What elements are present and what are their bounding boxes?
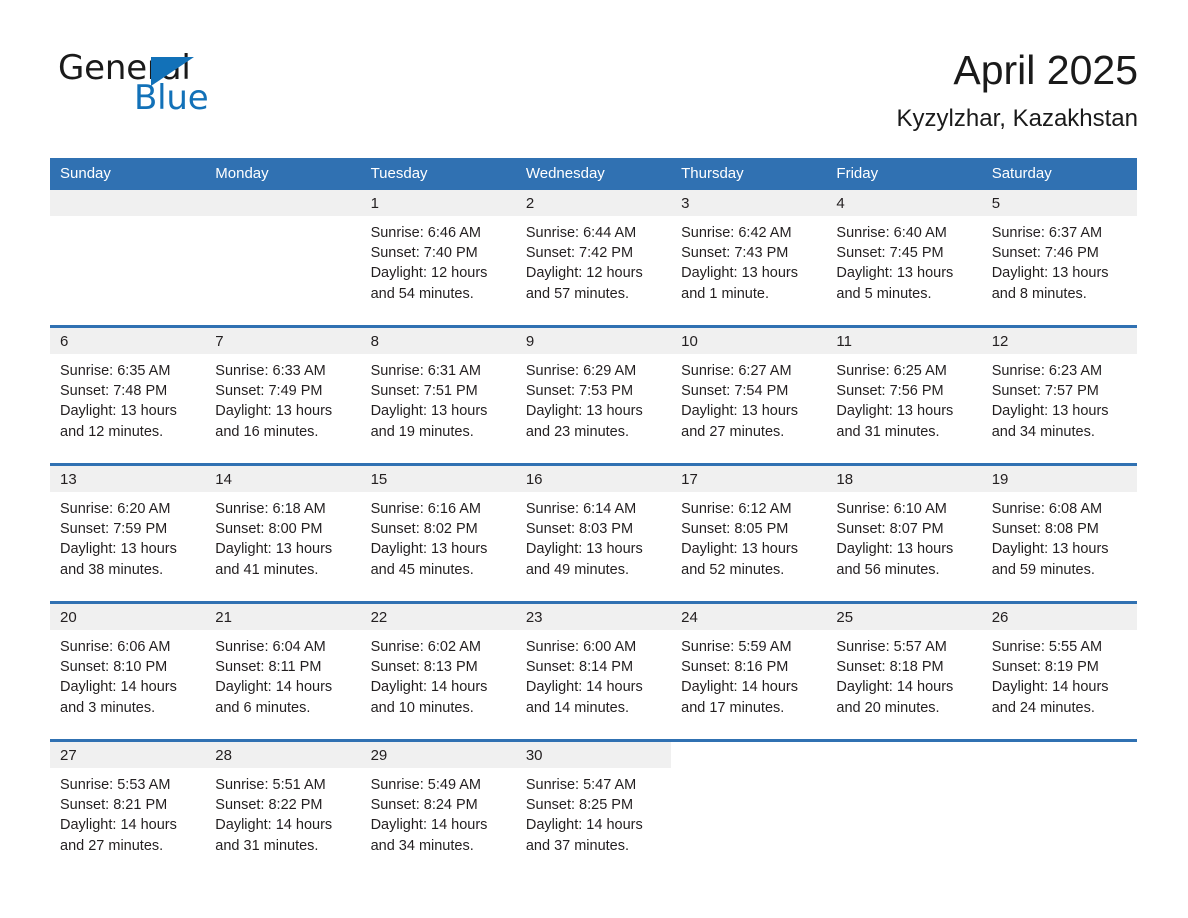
- sunset-text: Sunset: 7:59 PM: [60, 519, 197, 539]
- day-number: 29: [361, 742, 516, 768]
- sunset-text: Sunset: 8:24 PM: [371, 795, 508, 815]
- logo-text-blue: Blue: [134, 78, 208, 118]
- sunrise-text: Sunrise: 6:18 AM: [215, 499, 352, 519]
- sunset-text: Sunset: 8:08 PM: [992, 519, 1129, 539]
- day-details: Sunrise: 6:06 AMSunset: 8:10 PMDaylight:…: [50, 630, 205, 718]
- sunrise-text: Sunrise: 6:20 AM: [60, 499, 197, 519]
- sunset-text: Sunset: 8:22 PM: [215, 795, 352, 815]
- day-number: 18: [826, 466, 981, 492]
- day-number: 3: [671, 190, 826, 216]
- sunrise-text: Sunrise: 6:02 AM: [371, 637, 508, 657]
- calendar-header-row: Sunday Monday Tuesday Wednesday Thursday…: [50, 158, 1137, 190]
- sunrise-text: Sunrise: 6:00 AM: [526, 637, 663, 657]
- day-number: 2: [516, 190, 671, 216]
- day-number: 19: [982, 466, 1137, 492]
- general-blue-logo[interactable]: General Blue: [58, 48, 318, 118]
- daylight-text-line2: and 19 minutes.: [371, 422, 508, 442]
- daylight-text-line2: and 6 minutes.: [215, 698, 352, 718]
- calendar-cell-day[interactable]: 8Sunrise: 6:31 AMSunset: 7:51 PMDaylight…: [361, 327, 516, 465]
- daylight-text-line2: and 34 minutes.: [992, 422, 1129, 442]
- sunset-text: Sunset: 7:57 PM: [992, 381, 1129, 401]
- sunset-text: Sunset: 7:42 PM: [526, 243, 663, 263]
- sunrise-text: Sunrise: 6:40 AM: [836, 223, 973, 243]
- day-number: [982, 742, 1137, 768]
- page-header: General Blue April 2025 Kyzylzhar, Kazak…: [0, 0, 1188, 150]
- weekday-header-thursday: Thursday: [671, 158, 826, 190]
- daylight-text-line2: and 54 minutes.: [371, 284, 508, 304]
- daylight-text-line2: and 27 minutes.: [60, 836, 197, 856]
- daylight-text-line2: and 31 minutes.: [215, 836, 352, 856]
- daylight-text-line1: Daylight: 14 hours: [681, 677, 818, 697]
- weekday-header-monday: Monday: [205, 158, 360, 190]
- calendar-cell-empty: [205, 190, 360, 327]
- day-number: 17: [671, 466, 826, 492]
- daylight-text-line1: Daylight: 12 hours: [371, 263, 508, 283]
- daylight-text-line2: and 12 minutes.: [60, 422, 197, 442]
- day-details: Sunrise: 6:08 AMSunset: 8:08 PMDaylight:…: [982, 492, 1137, 580]
- calendar-cell-day[interactable]: 2Sunrise: 6:44 AMSunset: 7:42 PMDaylight…: [516, 190, 671, 327]
- daylight-text-line1: Daylight: 14 hours: [215, 815, 352, 835]
- daylight-text-line2: and 14 minutes.: [526, 698, 663, 718]
- daylight-text-line1: Daylight: 13 hours: [526, 539, 663, 559]
- sunset-text: Sunset: 8:25 PM: [526, 795, 663, 815]
- day-number: 5: [982, 190, 1137, 216]
- sunset-text: Sunset: 7:56 PM: [836, 381, 973, 401]
- day-details: Sunrise: 6:14 AMSunset: 8:03 PMDaylight:…: [516, 492, 671, 580]
- daylight-text-line2: and 27 minutes.: [681, 422, 818, 442]
- calendar-cell-day[interactable]: 7Sunrise: 6:33 AMSunset: 7:49 PMDaylight…: [205, 327, 360, 465]
- daylight-text-line1: Daylight: 13 hours: [836, 401, 973, 421]
- daylight-text-line1: Daylight: 13 hours: [60, 401, 197, 421]
- sunset-text: Sunset: 8:00 PM: [215, 519, 352, 539]
- sunset-text: Sunset: 7:51 PM: [371, 381, 508, 401]
- calendar-cell-day[interactable]: 23Sunrise: 6:00 AMSunset: 8:14 PMDayligh…: [516, 603, 671, 741]
- daylight-text-line1: Daylight: 14 hours: [992, 677, 1129, 697]
- daylight-text-line2: and 5 minutes.: [836, 284, 973, 304]
- calendar-week-row: 27Sunrise: 5:53 AMSunset: 8:21 PMDayligh…: [50, 741, 1137, 861]
- calendar-cell-empty: [826, 741, 981, 861]
- day-number: 7: [205, 328, 360, 354]
- day-number: 27: [50, 742, 205, 768]
- day-details: Sunrise: 6:25 AMSunset: 7:56 PMDaylight:…: [826, 354, 981, 442]
- calendar-cell-empty: [50, 190, 205, 327]
- sunrise-text: Sunrise: 5:49 AM: [371, 775, 508, 795]
- weekday-header-sunday: Sunday: [50, 158, 205, 190]
- calendar-week-row: 13Sunrise: 6:20 AMSunset: 7:59 PMDayligh…: [50, 465, 1137, 603]
- daylight-text-line1: Daylight: 13 hours: [371, 401, 508, 421]
- sunset-text: Sunset: 8:07 PM: [836, 519, 973, 539]
- day-number: [205, 190, 360, 216]
- day-number: 21: [205, 604, 360, 630]
- day-details: Sunrise: 6:33 AMSunset: 7:49 PMDaylight:…: [205, 354, 360, 442]
- daylight-text-line1: Daylight: 12 hours: [526, 263, 663, 283]
- daylight-text-line2: and 38 minutes.: [60, 560, 197, 580]
- sunrise-text: Sunrise: 6:10 AM: [836, 499, 973, 519]
- day-details: Sunrise: 6:23 AMSunset: 7:57 PMDaylight:…: [982, 354, 1137, 442]
- daylight-text-line1: Daylight: 13 hours: [371, 539, 508, 559]
- day-number: 6: [50, 328, 205, 354]
- page-title: April 2025: [897, 44, 1138, 96]
- day-details: Sunrise: 6:16 AMSunset: 8:02 PMDaylight:…: [361, 492, 516, 580]
- day-details: Sunrise: 5:49 AMSunset: 8:24 PMDaylight:…: [361, 768, 516, 856]
- sunrise-text: Sunrise: 5:59 AM: [681, 637, 818, 657]
- daylight-text-line1: Daylight: 13 hours: [681, 539, 818, 559]
- sunset-text: Sunset: 7:49 PM: [215, 381, 352, 401]
- calendar-cell-day[interactable]: 5Sunrise: 6:37 AMSunset: 7:46 PMDaylight…: [982, 190, 1137, 327]
- day-details: Sunrise: 6:12 AMSunset: 8:05 PMDaylight:…: [671, 492, 826, 580]
- daylight-text-line2: and 8 minutes.: [992, 284, 1129, 304]
- sunrise-text: Sunrise: 6:06 AM: [60, 637, 197, 657]
- day-number: 11: [826, 328, 981, 354]
- sunrise-text: Sunrise: 5:51 AM: [215, 775, 352, 795]
- daylight-text-line1: Daylight: 13 hours: [836, 263, 973, 283]
- sunrise-text: Sunrise: 6:25 AM: [836, 361, 973, 381]
- daylight-text-line1: Daylight: 13 hours: [681, 263, 818, 283]
- daylight-text-line2: and 49 minutes.: [526, 560, 663, 580]
- sunset-text: Sunset: 8:19 PM: [992, 657, 1129, 677]
- sunrise-text: Sunrise: 6:08 AM: [992, 499, 1129, 519]
- calendar-cell-day[interactable]: 26Sunrise: 5:55 AMSunset: 8:19 PMDayligh…: [982, 603, 1137, 741]
- day-details: Sunrise: 5:53 AMSunset: 8:21 PMDaylight:…: [50, 768, 205, 856]
- calendar-cell-day[interactable]: 14Sunrise: 6:18 AMSunset: 8:00 PMDayligh…: [205, 465, 360, 603]
- day-details: Sunrise: 5:57 AMSunset: 8:18 PMDaylight:…: [826, 630, 981, 718]
- daylight-text-line1: Daylight: 14 hours: [526, 815, 663, 835]
- sunset-text: Sunset: 8:21 PM: [60, 795, 197, 815]
- sunset-text: Sunset: 8:05 PM: [681, 519, 818, 539]
- daylight-text-line2: and 34 minutes.: [371, 836, 508, 856]
- day-number: 16: [516, 466, 671, 492]
- calendar-body: 1Sunrise: 6:46 AMSunset: 7:40 PMDaylight…: [50, 190, 1137, 860]
- sunset-text: Sunset: 8:03 PM: [526, 519, 663, 539]
- sunrise-text: Sunrise: 6:04 AM: [215, 637, 352, 657]
- day-details: Sunrise: 6:27 AMSunset: 7:54 PMDaylight:…: [671, 354, 826, 442]
- sunrise-text: Sunrise: 6:12 AM: [681, 499, 818, 519]
- sunrise-text: Sunrise: 5:53 AM: [60, 775, 197, 795]
- day-number: 13: [50, 466, 205, 492]
- day-details: Sunrise: 6:20 AMSunset: 7:59 PMDaylight:…: [50, 492, 205, 580]
- title-block: April 2025 Kyzylzhar, Kazakhstan: [897, 44, 1138, 134]
- day-number: 20: [50, 604, 205, 630]
- day-details: Sunrise: 6:02 AMSunset: 8:13 PMDaylight:…: [361, 630, 516, 718]
- daylight-text-line2: and 45 minutes.: [371, 560, 508, 580]
- calendar-cell-day[interactable]: 21Sunrise: 6:04 AMSunset: 8:11 PMDayligh…: [205, 603, 360, 741]
- day-number: [671, 742, 826, 768]
- calendar-table: Sunday Monday Tuesday Wednesday Thursday…: [50, 158, 1137, 860]
- day-number: 30: [516, 742, 671, 768]
- sunrise-text: Sunrise: 6:33 AM: [215, 361, 352, 381]
- day-details: Sunrise: 6:10 AMSunset: 8:07 PMDaylight:…: [826, 492, 981, 580]
- calendar-cell-day[interactable]: 15Sunrise: 6:16 AMSunset: 8:02 PMDayligh…: [361, 465, 516, 603]
- calendar-cell-empty: [671, 741, 826, 861]
- daylight-text-line1: Daylight: 13 hours: [992, 263, 1129, 283]
- day-number: 8: [361, 328, 516, 354]
- weekday-header-friday: Friday: [826, 158, 981, 190]
- weekday-header-saturday: Saturday: [982, 158, 1137, 190]
- day-details: Sunrise: 6:29 AMSunset: 7:53 PMDaylight:…: [516, 354, 671, 442]
- day-number: [50, 190, 205, 216]
- day-details: Sunrise: 5:47 AMSunset: 8:25 PMDaylight:…: [516, 768, 671, 856]
- day-number: 25: [826, 604, 981, 630]
- daylight-text-line1: Daylight: 13 hours: [992, 401, 1129, 421]
- calendar-cell-empty: [982, 741, 1137, 861]
- calendar-week-row: 1Sunrise: 6:46 AMSunset: 7:40 PMDaylight…: [50, 190, 1137, 327]
- sunset-text: Sunset: 8:16 PM: [681, 657, 818, 677]
- weekday-header-wednesday: Wednesday: [516, 158, 671, 190]
- sunrise-text: Sunrise: 6:46 AM: [371, 223, 508, 243]
- day-details: Sunrise: 6:40 AMSunset: 7:45 PMDaylight:…: [826, 216, 981, 304]
- daylight-text-line1: Daylight: 13 hours: [526, 401, 663, 421]
- day-details: Sunrise: 6:18 AMSunset: 8:00 PMDaylight:…: [205, 492, 360, 580]
- calendar-cell-day[interactable]: 24Sunrise: 5:59 AMSunset: 8:16 PMDayligh…: [671, 603, 826, 741]
- sunset-text: Sunset: 7:54 PM: [681, 381, 818, 401]
- calendar-cell-day[interactable]: 12Sunrise: 6:23 AMSunset: 7:57 PMDayligh…: [982, 327, 1137, 465]
- daylight-text-line2: and 20 minutes.: [836, 698, 973, 718]
- day-details: Sunrise: 6:00 AMSunset: 8:14 PMDaylight:…: [516, 630, 671, 718]
- calendar-cell-day[interactable]: 9Sunrise: 6:29 AMSunset: 7:53 PMDaylight…: [516, 327, 671, 465]
- calendar-cell-day[interactable]: 19Sunrise: 6:08 AMSunset: 8:08 PMDayligh…: [982, 465, 1137, 603]
- day-number: 12: [982, 328, 1137, 354]
- day-number: 14: [205, 466, 360, 492]
- sunrise-text: Sunrise: 6:37 AM: [992, 223, 1129, 243]
- day-number: 26: [982, 604, 1137, 630]
- daylight-text-line1: Daylight: 14 hours: [836, 677, 973, 697]
- daylight-text-line1: Daylight: 13 hours: [60, 539, 197, 559]
- sunrise-text: Sunrise: 6:23 AM: [992, 361, 1129, 381]
- daylight-text-line2: and 41 minutes.: [215, 560, 352, 580]
- calendar-cell-day[interactable]: 18Sunrise: 6:10 AMSunset: 8:07 PMDayligh…: [826, 465, 981, 603]
- calendar-cell-day[interactable]: 22Sunrise: 6:02 AMSunset: 8:13 PMDayligh…: [361, 603, 516, 741]
- calendar-cell-day[interactable]: 6Sunrise: 6:35 AMSunset: 7:48 PMDaylight…: [50, 327, 205, 465]
- calendar-cell-day[interactable]: 3Sunrise: 6:42 AMSunset: 7:43 PMDaylight…: [671, 190, 826, 327]
- daylight-text-line2: and 57 minutes.: [526, 284, 663, 304]
- day-details: Sunrise: 6:04 AMSunset: 8:11 PMDaylight:…: [205, 630, 360, 718]
- day-number: 22: [361, 604, 516, 630]
- day-details: Sunrise: 6:46 AMSunset: 7:40 PMDaylight:…: [361, 216, 516, 304]
- sunset-text: Sunset: 8:02 PM: [371, 519, 508, 539]
- sunrise-text: Sunrise: 6:42 AM: [681, 223, 818, 243]
- sunset-text: Sunset: 8:14 PM: [526, 657, 663, 677]
- sunset-text: Sunset: 8:13 PM: [371, 657, 508, 677]
- daylight-text-line1: Daylight: 13 hours: [992, 539, 1129, 559]
- calendar-cell-day[interactable]: 20Sunrise: 6:06 AMSunset: 8:10 PMDayligh…: [50, 603, 205, 741]
- sunrise-text: Sunrise: 6:35 AM: [60, 361, 197, 381]
- day-details: Sunrise: 6:35 AMSunset: 7:48 PMDaylight:…: [50, 354, 205, 442]
- daylight-text-line2: and 16 minutes.: [215, 422, 352, 442]
- calendar-cell-day[interactable]: 4Sunrise: 6:40 AMSunset: 7:45 PMDaylight…: [826, 190, 981, 327]
- daylight-text-line1: Daylight: 14 hours: [60, 815, 197, 835]
- calendar-cell-day[interactable]: 17Sunrise: 6:12 AMSunset: 8:05 PMDayligh…: [671, 465, 826, 603]
- daylight-text-line2: and 10 minutes.: [371, 698, 508, 718]
- daylight-text-line2: and 23 minutes.: [526, 422, 663, 442]
- weekday-header-tuesday: Tuesday: [361, 158, 516, 190]
- day-number: 1: [361, 190, 516, 216]
- day-number: 23: [516, 604, 671, 630]
- daylight-text-line2: and 59 minutes.: [992, 560, 1129, 580]
- calendar-cell-day[interactable]: 25Sunrise: 5:57 AMSunset: 8:18 PMDayligh…: [826, 603, 981, 741]
- sunrise-text: Sunrise: 6:44 AM: [526, 223, 663, 243]
- sunrise-text: Sunrise: 6:29 AM: [526, 361, 663, 381]
- daylight-text-line2: and 24 minutes.: [992, 698, 1129, 718]
- calendar-cell-day[interactable]: 28Sunrise: 5:51 AMSunset: 8:22 PMDayligh…: [205, 741, 360, 861]
- sunset-text: Sunset: 7:53 PM: [526, 381, 663, 401]
- daylight-text-line1: Daylight: 14 hours: [371, 677, 508, 697]
- calendar-cell-day[interactable]: 30Sunrise: 5:47 AMSunset: 8:25 PMDayligh…: [516, 741, 671, 861]
- day-number: 24: [671, 604, 826, 630]
- daylight-text-line1: Daylight: 14 hours: [371, 815, 508, 835]
- daylight-text-line1: Daylight: 13 hours: [681, 401, 818, 421]
- sunrise-text: Sunrise: 5:57 AM: [836, 637, 973, 657]
- daylight-text-line2: and 37 minutes.: [526, 836, 663, 856]
- sunrise-text: Sunrise: 6:16 AM: [371, 499, 508, 519]
- day-details: Sunrise: 6:31 AMSunset: 7:51 PMDaylight:…: [361, 354, 516, 442]
- day-details: Sunrise: 6:44 AMSunset: 7:42 PMDaylight:…: [516, 216, 671, 304]
- sunset-text: Sunset: 7:40 PM: [371, 243, 508, 263]
- daylight-text-line1: Daylight: 14 hours: [60, 677, 197, 697]
- calendar-page: General Blue April 2025 Kyzylzhar, Kazak…: [0, 0, 1188, 918]
- calendar-cell-day[interactable]: 10Sunrise: 6:27 AMSunset: 7:54 PMDayligh…: [671, 327, 826, 465]
- daylight-text-line2: and 52 minutes.: [681, 560, 818, 580]
- calendar-week-row: 20Sunrise: 6:06 AMSunset: 8:10 PMDayligh…: [50, 603, 1137, 741]
- calendar-cell-day[interactable]: 13Sunrise: 6:20 AMSunset: 7:59 PMDayligh…: [50, 465, 205, 603]
- daylight-text-line1: Daylight: 13 hours: [215, 539, 352, 559]
- sunset-text: Sunset: 8:18 PM: [836, 657, 973, 677]
- day-number: 10: [671, 328, 826, 354]
- day-number: [826, 742, 981, 768]
- calendar-week-row: 6Sunrise: 6:35 AMSunset: 7:48 PMDaylight…: [50, 327, 1137, 465]
- calendar-cell-day[interactable]: 11Sunrise: 6:25 AMSunset: 7:56 PMDayligh…: [826, 327, 981, 465]
- daylight-text-line1: Daylight: 13 hours: [836, 539, 973, 559]
- sunset-text: Sunset: 7:45 PM: [836, 243, 973, 263]
- daylight-text-line1: Daylight: 13 hours: [215, 401, 352, 421]
- sunset-text: Sunset: 8:11 PM: [215, 657, 352, 677]
- daylight-text-line2: and 31 minutes.: [836, 422, 973, 442]
- daylight-text-line1: Daylight: 14 hours: [215, 677, 352, 697]
- daylight-text-line2: and 1 minute.: [681, 284, 818, 304]
- daylight-text-line1: Daylight: 14 hours: [526, 677, 663, 697]
- day-number: 9: [516, 328, 671, 354]
- sunrise-text: Sunrise: 6:14 AM: [526, 499, 663, 519]
- calendar-cell-day[interactable]: 27Sunrise: 5:53 AMSunset: 8:21 PMDayligh…: [50, 741, 205, 861]
- sunset-text: Sunset: 7:43 PM: [681, 243, 818, 263]
- daylight-text-line2: and 17 minutes.: [681, 698, 818, 718]
- day-details: Sunrise: 6:42 AMSunset: 7:43 PMDaylight:…: [671, 216, 826, 304]
- calendar-cell-day[interactable]: 29Sunrise: 5:49 AMSunset: 8:24 PMDayligh…: [361, 741, 516, 861]
- sunrise-text: Sunrise: 5:47 AM: [526, 775, 663, 795]
- daylight-text-line2: and 3 minutes.: [60, 698, 197, 718]
- sunset-text: Sunset: 7:48 PM: [60, 381, 197, 401]
- calendar-cell-day[interactable]: 16Sunrise: 6:14 AMSunset: 8:03 PMDayligh…: [516, 465, 671, 603]
- day-details: Sunrise: 6:37 AMSunset: 7:46 PMDaylight:…: [982, 216, 1137, 304]
- daylight-text-line2: and 56 minutes.: [836, 560, 973, 580]
- sunrise-text: Sunrise: 6:31 AM: [371, 361, 508, 381]
- day-details: Sunrise: 5:55 AMSunset: 8:19 PMDaylight:…: [982, 630, 1137, 718]
- calendar-cell-day[interactable]: 1Sunrise: 6:46 AMSunset: 7:40 PMDaylight…: [361, 190, 516, 327]
- day-number: 15: [361, 466, 516, 492]
- sunrise-text: Sunrise: 5:55 AM: [992, 637, 1129, 657]
- sunrise-text: Sunrise: 6:27 AM: [681, 361, 818, 381]
- day-number: 28: [205, 742, 360, 768]
- sunset-text: Sunset: 8:10 PM: [60, 657, 197, 677]
- day-details: Sunrise: 5:51 AMSunset: 8:22 PMDaylight:…: [205, 768, 360, 856]
- day-number: 4: [826, 190, 981, 216]
- day-details: Sunrise: 5:59 AMSunset: 8:16 PMDaylight:…: [671, 630, 826, 718]
- sunset-text: Sunset: 7:46 PM: [992, 243, 1129, 263]
- location-subtitle: Kyzylzhar, Kazakhstan: [897, 104, 1138, 134]
